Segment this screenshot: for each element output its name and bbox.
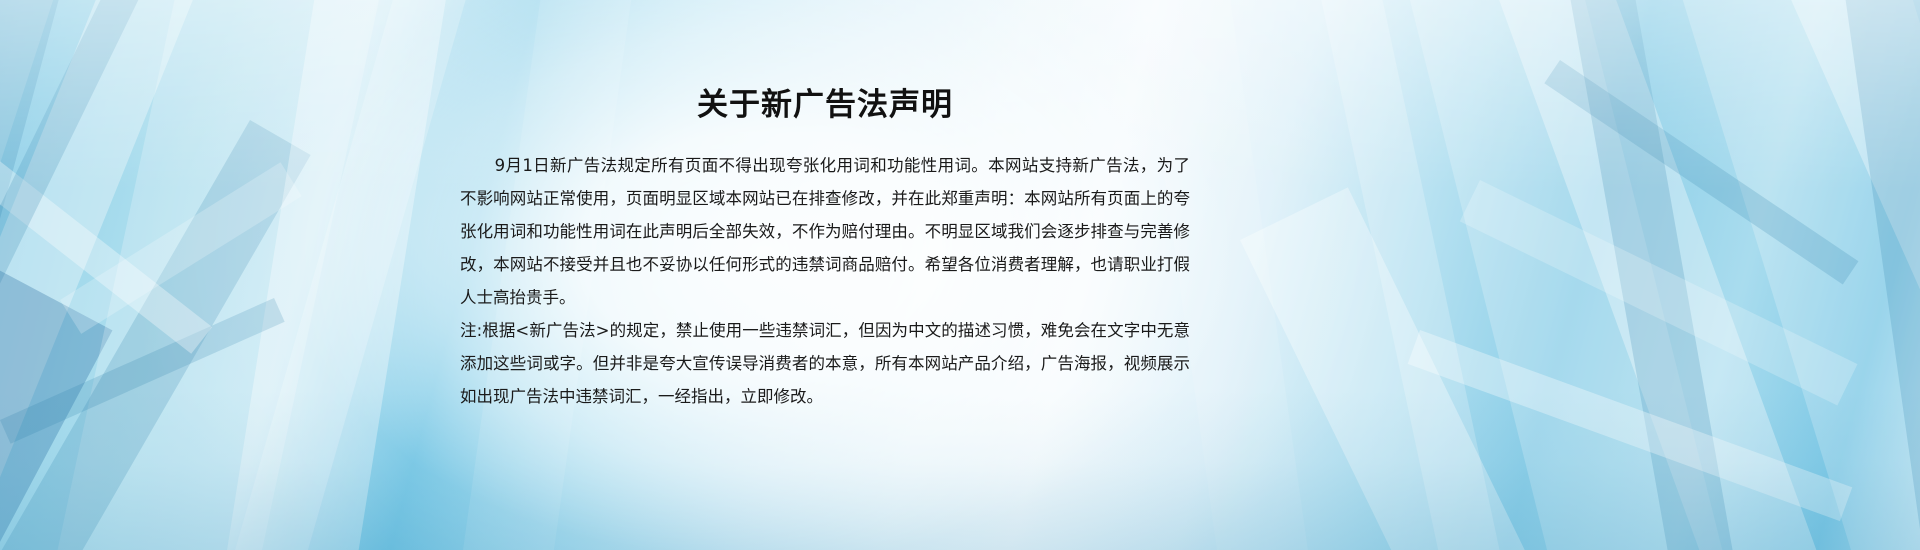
banner-content: 关于新广告法声明 9月1日新广告法规定所有页面不得出现夸张化用词和功能性用词。本…	[0, 0, 1920, 550]
statement-block: 关于新广告法声明 9月1日新广告法规定所有页面不得出现夸张化用词和功能性用词。本…	[460, 84, 1190, 413]
statement-paragraph-note: 注:根据<新广告法>的规定，禁止使用一些违禁词汇，但因为中文的描述习惯，难免会在…	[460, 314, 1190, 413]
page-title: 关于新广告法声明	[460, 84, 1190, 127]
statement-paragraph-main: 9月1日新广告法规定所有页面不得出现夸张化用词和功能性用词。本网站支持新广告法，…	[460, 149, 1190, 314]
advertising-law-statement-banner: 关于新广告法声明 9月1日新广告法规定所有页面不得出现夸张化用词和功能性用词。本…	[0, 0, 1920, 550]
